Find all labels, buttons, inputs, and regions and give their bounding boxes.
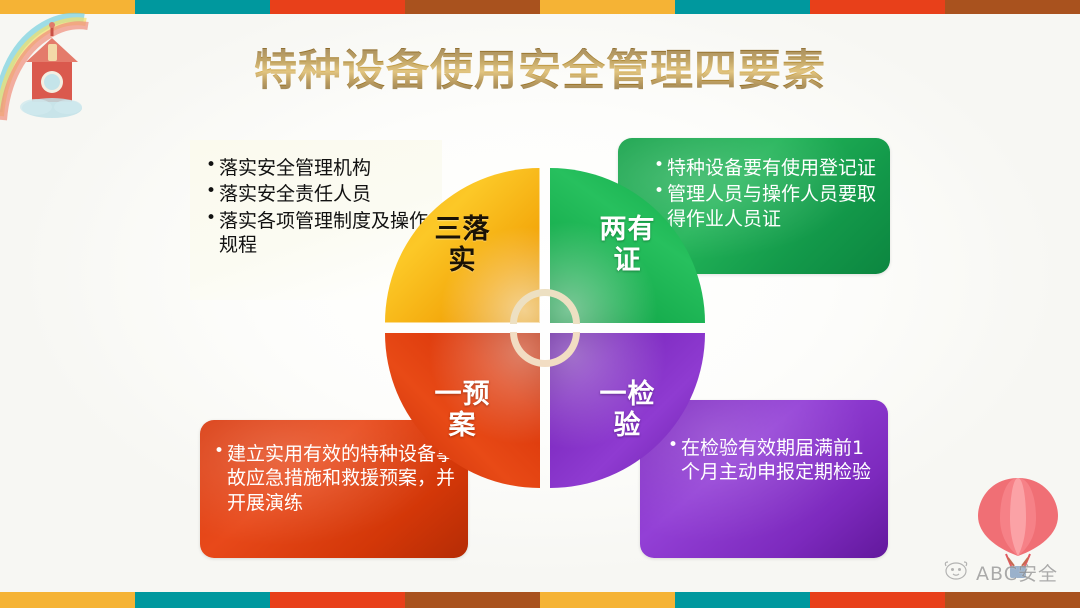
bottom-color-stripe bbox=[0, 592, 1080, 608]
stripe-segment-5 bbox=[675, 592, 810, 608]
wheel-quadrant-yi-jian-yan[interactable]: 一检验 bbox=[550, 333, 705, 488]
stripe-segment-1 bbox=[135, 0, 270, 14]
wheel-quadrant-san-luo-shi[interactable]: 三落实 bbox=[385, 168, 540, 323]
wheel-quadrant-label: 三落实 bbox=[427, 215, 499, 275]
wheel-quadrant-yi-yu-an[interactable]: 一预案 bbox=[385, 333, 540, 488]
top-color-stripe bbox=[0, 0, 1080, 14]
stripe-segment-2 bbox=[270, 592, 405, 608]
four-elements-wheel-diagram: 三落实 两有证 一预案 一检验 bbox=[385, 168, 705, 488]
stripe-segment-7 bbox=[945, 592, 1080, 608]
wheel-quadrant-label: 一预案 bbox=[427, 380, 499, 440]
stripe-segment-3 bbox=[405, 0, 540, 14]
wheel-quadrant-liang-you-zheng[interactable]: 两有证 bbox=[550, 168, 705, 323]
stripe-segment-3 bbox=[405, 592, 540, 608]
watermark: ABC安全 bbox=[943, 559, 1058, 586]
penguin-mascot-icon bbox=[943, 560, 969, 585]
wheel-quadrant-label: 两有证 bbox=[592, 215, 664, 275]
stripe-segment-6 bbox=[810, 0, 945, 14]
stripe-segment-2 bbox=[270, 0, 405, 14]
wheel-quadrant-label: 一检验 bbox=[592, 380, 664, 440]
page-title: 特种设备使用安全管理四要素 bbox=[0, 48, 1080, 95]
stripe-segment-6 bbox=[810, 592, 945, 608]
stripe-segment-4 bbox=[540, 592, 675, 608]
stripe-segment-0 bbox=[0, 592, 135, 608]
stripe-segment-4 bbox=[540, 0, 675, 14]
watermark-text: ABC安全 bbox=[976, 559, 1058, 586]
stripe-segment-1 bbox=[135, 592, 270, 608]
stripe-segment-5 bbox=[675, 0, 810, 14]
stripe-segment-7 bbox=[945, 0, 1080, 14]
